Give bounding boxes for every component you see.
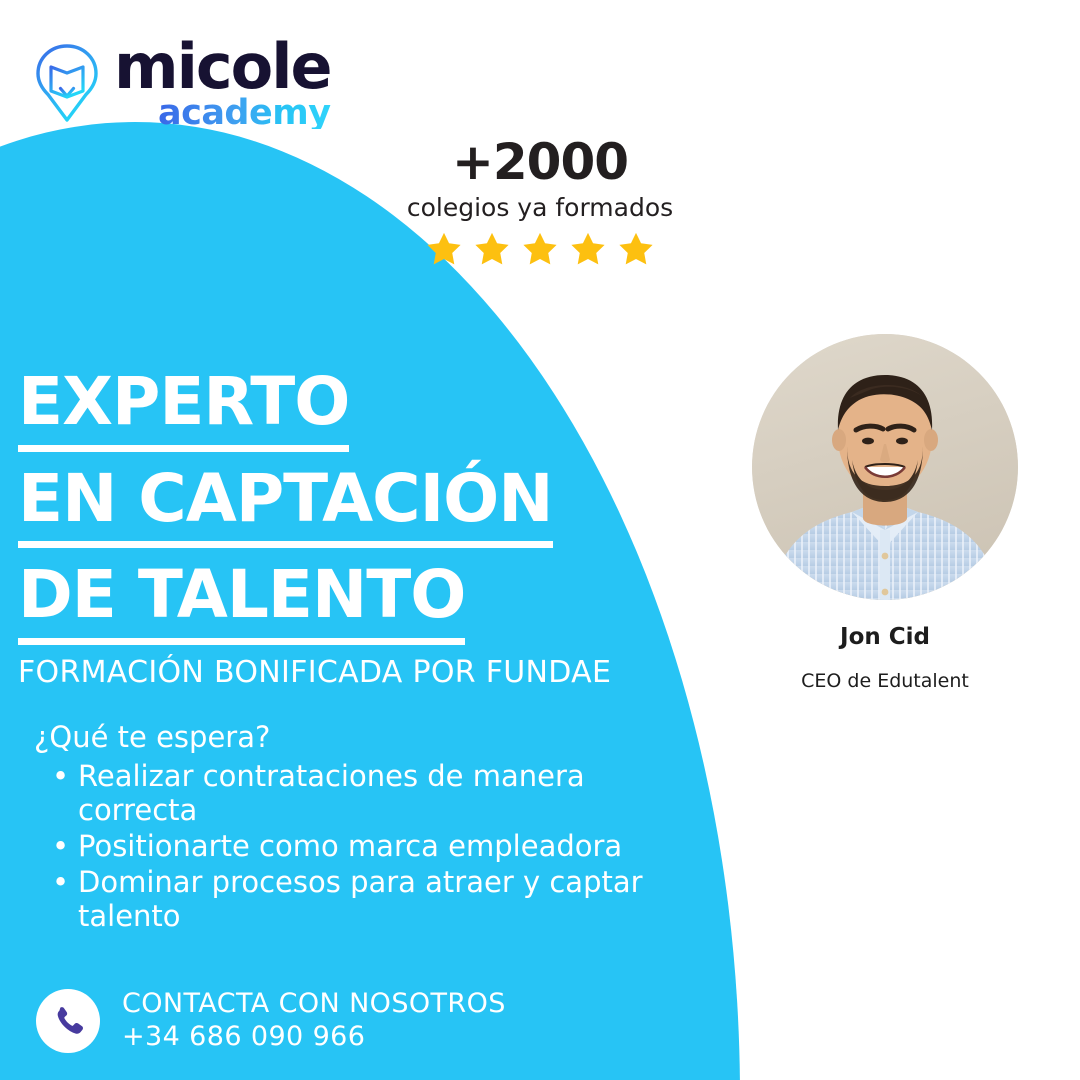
headline-line-3: DE TALENTO — [18, 555, 465, 645]
star-icon — [617, 230, 655, 268]
body-copy: ¿Qué te espera? Realizar contrataciones … — [34, 720, 678, 936]
headline: EXPERTO EN CAPTACIÓN DE TALENTO — [18, 362, 553, 652]
headline-line-2: EN CAPTACIÓN — [18, 459, 553, 549]
speaker-block: Jon Cid CEO de Edutalent — [752, 334, 1018, 692]
list-item: Dominar procesos para atraer y captar ta… — [78, 866, 678, 934]
contact-block[interactable]: CONTACTA CON NOSOTROS +34 686 090 966 — [36, 988, 506, 1054]
phone-icon — [36, 989, 100, 1053]
star-icon — [473, 230, 511, 268]
contact-phone[interactable]: +34 686 090 966 — [122, 1021, 506, 1054]
list-item: Realizar contrataciones de manera correc… — [78, 760, 678, 828]
star-icon — [425, 230, 463, 268]
location-pin-book-icon — [34, 42, 100, 126]
poster-canvas: micole academy +2000 colegios ya formado… — [0, 0, 1080, 1080]
logo-secondary-text: academy — [114, 97, 331, 129]
headline-line-1: EXPERTO — [18, 362, 349, 452]
stats-number: +2000 — [380, 136, 700, 189]
logo-primary-text: micole — [114, 38, 331, 95]
stats-block: +2000 colegios ya formados — [380, 136, 700, 268]
star-icon — [569, 230, 607, 268]
brand-logo[interactable]: micole academy — [34, 38, 331, 129]
body-question: ¿Qué te espera? — [34, 720, 678, 754]
star-rating — [380, 230, 700, 268]
contact-title: CONTACTA CON NOSOTROS — [122, 988, 506, 1021]
avatar — [752, 334, 1018, 600]
star-icon — [521, 230, 559, 268]
speaker-role: CEO de Edutalent — [752, 670, 1018, 692]
list-item: Positionarte como marca empleadora — [78, 830, 678, 864]
subheading: FORMACIÓN BONIFICADA POR FUNDAE — [18, 655, 611, 690]
stats-caption: colegios ya formados — [380, 193, 700, 222]
benefit-list: Realizar contrataciones de manera correc… — [34, 760, 678, 934]
speaker-name: Jon Cid — [752, 624, 1018, 650]
